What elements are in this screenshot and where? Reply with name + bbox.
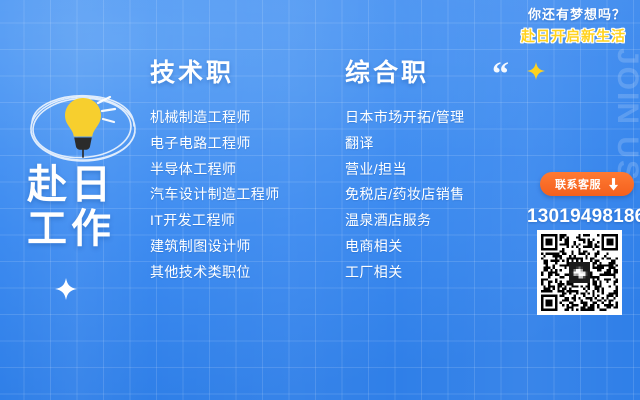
job-column-general: 综合职 日本市场开拓/管理 翻译 营业/担当 免税店/药妆店销售 温泉酒店服务 … [345, 58, 465, 286]
headline-line-1: 你还有梦想吗？ [521, 6, 626, 24]
list-item: 营业/担当 [345, 157, 465, 183]
list-item: IT开发工程师 [150, 208, 280, 234]
page-title-line-2: 工作 [27, 207, 115, 251]
qr-code[interactable] [537, 230, 622, 315]
list-item: 日本市场开拓/管理 [345, 105, 465, 131]
list-item: 建筑制图设计师 [150, 234, 280, 260]
list-item: 翻译 [345, 131, 465, 157]
list-item: 其他技术类职位 [150, 260, 280, 286]
arrow-down-icon [608, 178, 619, 191]
job-list-technical: 机械制造工程师 电子电路工程师 半导体工程师 汽车设计制造工程师 IT开发工程师… [150, 105, 280, 286]
contact-support-label: 联系客服 [555, 176, 601, 192]
job-list-general: 日本市场开拓/管理 翻译 营业/担当 免税店/药妆店销售 温泉酒店服务 电商相关… [345, 105, 465, 286]
list-item: 机械制造工程师 [150, 105, 280, 131]
list-item: 工厂相关 [345, 260, 465, 286]
list-item: 半导体工程师 [150, 157, 280, 183]
page-title: 赴日 工作 [27, 163, 115, 251]
column-title-technical: 技术职 [150, 58, 280, 88]
headline-line-2: 赴日开启新生活 [521, 27, 626, 46]
page-title-line-1: 赴日 [27, 163, 115, 207]
list-item: 汽车设计制造工程师 [150, 182, 280, 208]
qr-code-canvas [541, 234, 618, 311]
job-column-technical: 技术职 机械制造工程师 电子电路工程师 半导体工程师 汽车设计制造工程师 IT开… [150, 58, 280, 286]
join-us-watermark: JOIN US [612, 48, 640, 182]
sparkle-star-white-icon [55, 278, 77, 300]
list-item: 电商相关 [345, 234, 465, 260]
lightbulb-illustration-icon [22, 80, 144, 172]
poster-canvas: JOIN US 你还有梦想吗？ 赴日开启新生活 “ 赴日 工作 [0, 0, 640, 400]
sparkle-star-yellow-icon [527, 62, 545, 80]
contact-support-button[interactable]: 联系客服 [540, 172, 634, 196]
list-item: 电子电路工程师 [150, 131, 280, 157]
headline-block: 你还有梦想吗？ 赴日开启新生活 [521, 6, 626, 46]
column-title-general: 综合职 [345, 58, 465, 88]
phone-number: 13019498186 [527, 206, 637, 228]
quote-mark: “ [492, 58, 509, 92]
list-item: 温泉酒店服务 [345, 208, 465, 234]
list-item: 免税店/药妆店销售 [345, 182, 465, 208]
